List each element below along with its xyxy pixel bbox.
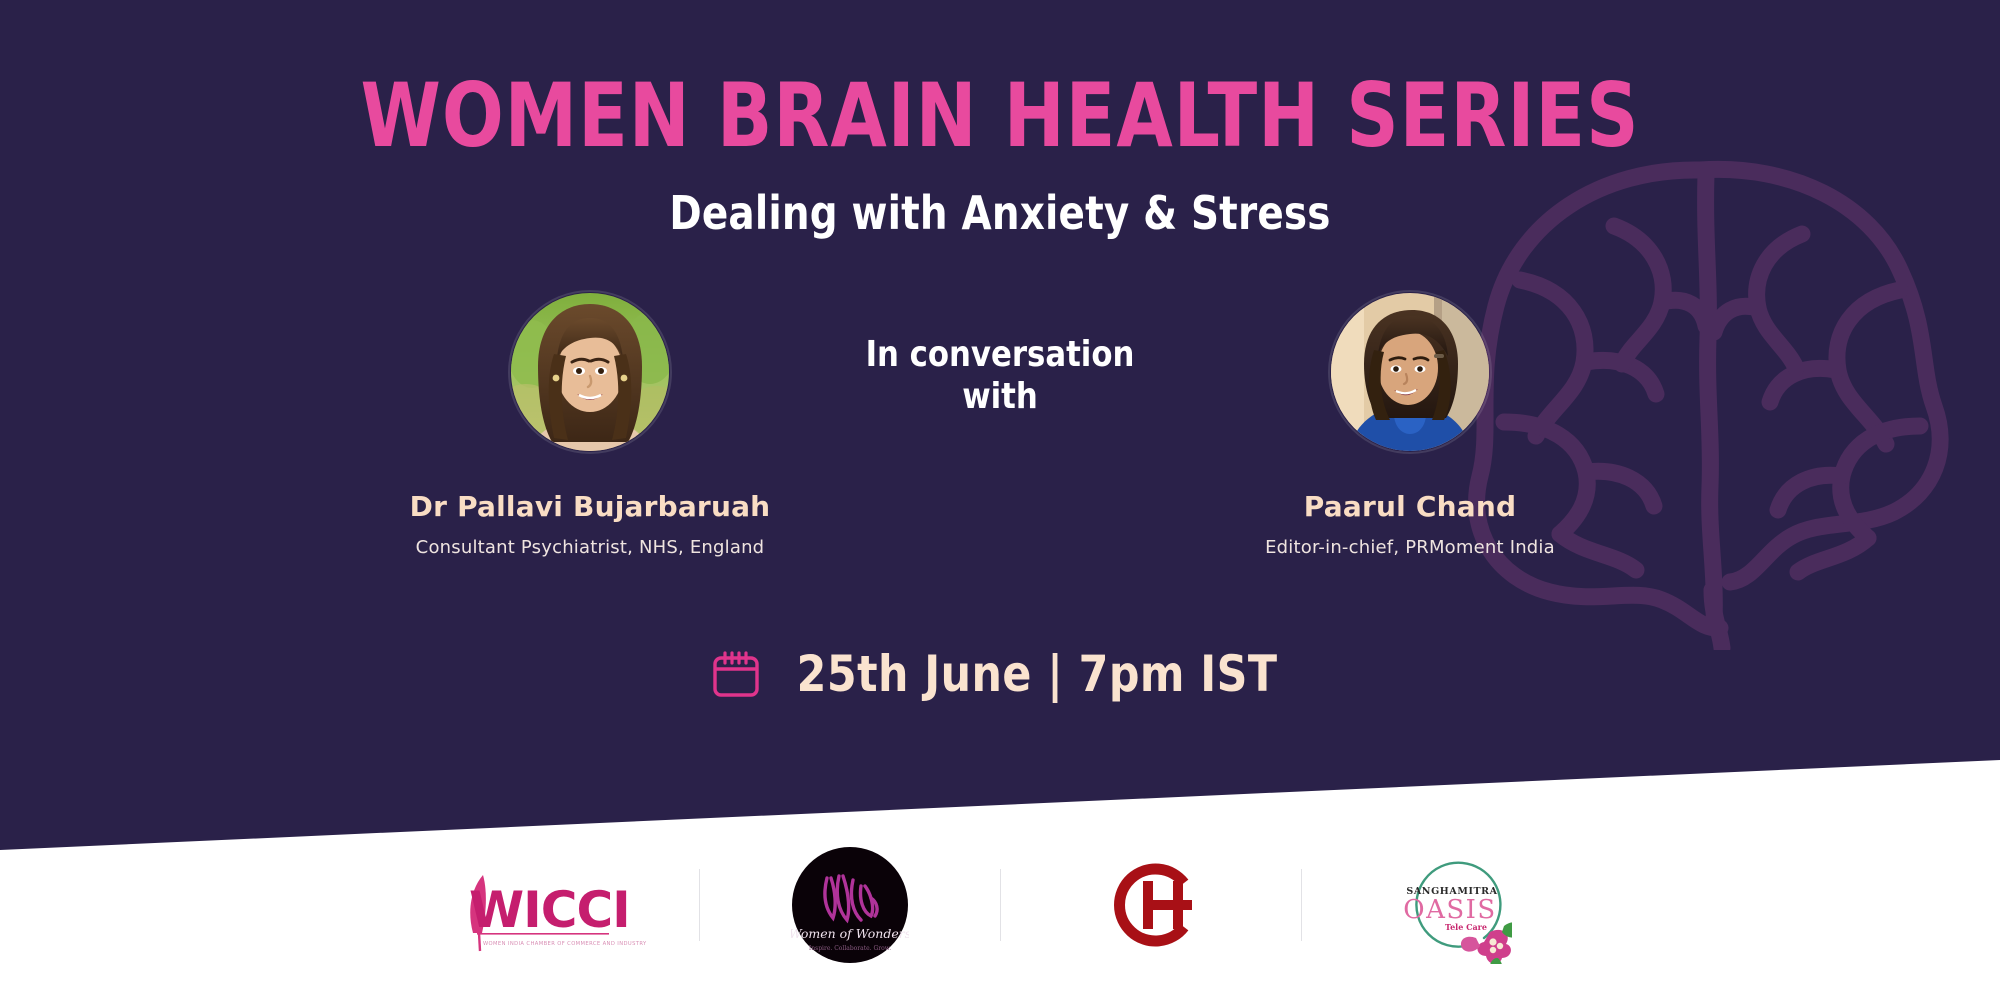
partner-logo-strip: WICCI WOMEN INDIA CHAMBER OF COMMERCE AN… [0, 810, 2000, 1000]
in-conversation-line2: with [858, 376, 1143, 418]
in-conversation-label: In conversation with [858, 292, 1143, 419]
headline-block: WOMEN BRAIN HEALTH SERIES Dealing with A… [0, 72, 2000, 240]
speaker-name: Dr Pallavi Bujarbaruah [330, 490, 850, 523]
speaker-role: Consultant Psychiatrist, NHS, England [330, 537, 850, 558]
svg-text:WICCI: WICCI [469, 881, 630, 939]
svg-text:WOMEN INDIA CHAMBER OF COMMERC: WOMEN INDIA CHAMBER OF COMMERCE AND INDU… [483, 941, 647, 947]
event-banner: WOMEN BRAIN HEALTH SERIES Dealing with A… [0, 0, 2000, 1000]
page-title: WOMEN BRAIN HEALTH SERIES [80, 72, 1920, 160]
logo-ch [1001, 830, 1301, 980]
svg-text:OASIS: OASIS [1403, 895, 1497, 925]
svg-text:Tele Care: Tele Care [1445, 922, 1487, 932]
svg-text:Inspire. Collaborate. Grow.: Inspire. Collaborate. Grow. [808, 945, 890, 952]
speaker-right: Paarul Chand Editor-in-chief, PRMoment I… [1150, 292, 1670, 558]
in-conversation-line1: In conversation [858, 334, 1143, 376]
svg-text:Women of Wonders: Women of Wonders [791, 926, 909, 941]
hero-panel: WOMEN BRAIN HEALTH SERIES Dealing with A… [0, 0, 2000, 860]
logo-women-of-wonders: Women of Wonders Inspire. Collaborate. G… [700, 830, 1000, 980]
speaker-avatar-pallavi [510, 292, 670, 452]
speaker-name: Paarul Chand [1150, 490, 1670, 523]
page-subtitle: Dealing with Anxiety & Stress [60, 186, 1940, 240]
speaker-role: Editor-in-chief, PRMoment India [1150, 537, 1670, 558]
logo-wicci: WICCI WOMEN INDIA CHAMBER OF COMMERCE AN… [399, 830, 699, 980]
event-date-text: 25th June | 7pm IST [797, 645, 1278, 703]
event-date-row: 25th June | 7pm IST [0, 645, 2000, 703]
calendar-icon [710, 648, 762, 700]
speakers-row: Dr Pallavi Bujarbaruah Consultant Psychi… [0, 292, 2000, 558]
logo-sanghamitra-oasis: SANGHAMITRA OASIS Tele Care [1302, 830, 1602, 980]
speaker-avatar-paarul [1330, 292, 1490, 452]
speaker-left: Dr Pallavi Bujarbaruah Consultant Psychi… [330, 292, 850, 558]
